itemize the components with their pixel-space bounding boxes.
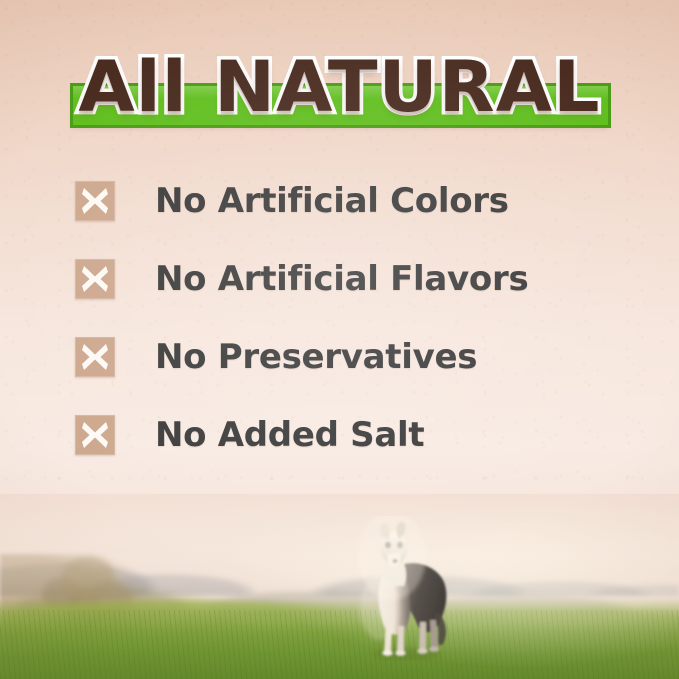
list-item: No Artificial Colors (75, 180, 635, 222)
headline-block: All NATURAL (0, 48, 679, 140)
list-item: No Artificial Flavors (75, 258, 635, 300)
list-item-label: No Added Salt (155, 414, 424, 456)
page-title: All NATURAL (0, 48, 679, 126)
list-item-label: No Artificial Colors (155, 180, 509, 222)
list-item: No Preservatives (75, 336, 635, 378)
x-mark-icon (75, 259, 115, 299)
x-mark-icon (75, 415, 115, 455)
photo-top-fade (0, 494, 679, 679)
list-item-label: No Artificial Flavors (155, 258, 528, 300)
claims-list: No Artificial Colors No Artificial Flavo… (75, 180, 635, 492)
x-mark-icon (75, 181, 115, 221)
dog-photo-subject (352, 516, 462, 661)
list-item-label: No Preservatives (155, 336, 477, 378)
product-claims-poster: All NATURAL No Artificial Colors No Arti… (0, 0, 679, 679)
lifestyle-photo (0, 494, 679, 679)
list-item: No Added Salt (75, 414, 635, 456)
x-mark-icon (75, 337, 115, 377)
